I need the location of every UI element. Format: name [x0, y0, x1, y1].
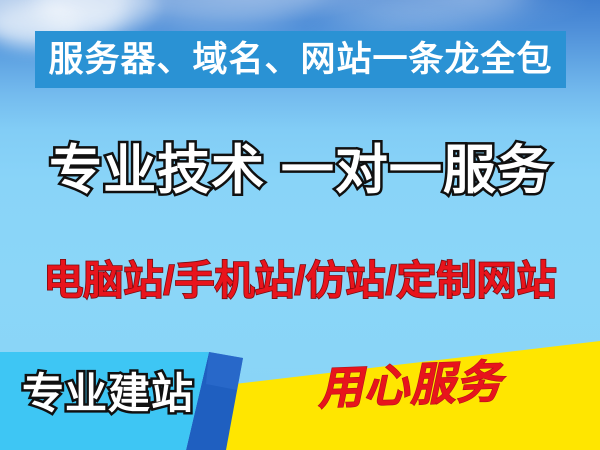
cloud-shape [120, 0, 320, 28]
bottom-ribbon: 专业建站 用心服务 [0, 330, 600, 450]
ribbon-right-label: 用心服务 [317, 359, 503, 411]
cloud-shape [36, 0, 156, 34]
promo-banner: 服务器、域名、网站一条龙全包 专业技术 一对一服务 电脑站/手机站/仿站/定制网… [0, 0, 600, 450]
ribbon-divider-bevel [206, 352, 243, 390]
headline-text: 服务器、域名、网站一条龙全包 [48, 42, 552, 77]
services-list-text: 电脑站/手机站/仿站/定制网站 [0, 258, 600, 304]
cloud-shape [300, 0, 530, 28]
hero-slogan: 专业技术 一对一服务 [0, 140, 600, 201]
ribbon-left-label: 专业建站 [22, 373, 194, 415]
headline-band: 服务器、域名、网站一条龙全包 [35, 31, 566, 88]
